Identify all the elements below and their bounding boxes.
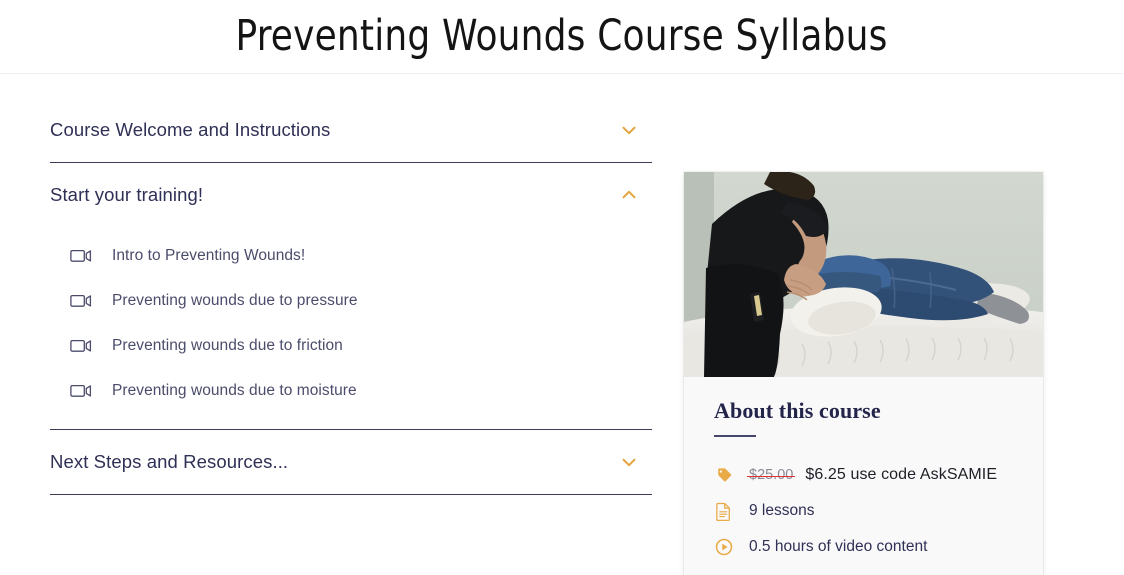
about-course-panel: About this course $25.00 $6.25 use code … [684,98,1043,575]
page-title: Preventing Wounds Course Syllabus [236,15,888,58]
lesson-title: Intro to Preventing Wounds! [112,247,305,265]
about-heading: About this course [714,399,1017,423]
section-title: Next Steps and Resources... [50,451,288,473]
about-course-body: About this course $25.00 $6.25 use code … [684,377,1043,575]
lesson-title: Preventing wounds due to friction [112,337,343,355]
section-header-start-your-training[interactable]: Start your training! [50,163,652,227]
chevron-up-icon[interactable] [618,184,640,206]
price-text: $25.00 $6.25 use code AskSAMIE [749,466,997,484]
page-content: Course Welcome and Instructions Start yo… [0,74,1124,575]
video-camera-icon [70,338,92,354]
curriculum-accordion: Course Welcome and Instructions Start yo… [50,98,652,495]
course-thumbnail-image [684,172,1043,377]
curriculum-section: Start your training! [50,163,652,430]
video-duration-row: 0.5 hours of video content [714,529,1017,565]
list-item[interactable]: Preventing wounds due to friction [50,323,652,368]
section-header-next-steps[interactable]: Next Steps and Resources... [50,430,652,494]
list-item[interactable]: Preventing wounds due to pressure [50,278,652,323]
lessons-count-text: 9 lessons [749,502,814,520]
heading-rule [714,435,756,437]
lesson-list: Intro to Preventing Wounds! Preventing w… [50,227,652,429]
video-duration-text: 0.5 hours of video content [749,538,927,556]
page-header: Preventing Wounds Course Syllabus [0,0,1124,74]
list-item[interactable]: Preventing wounds due to moisture [50,368,652,413]
chevron-down-icon[interactable] [618,451,640,473]
curriculum-section: Next Steps and Resources... [50,430,652,495]
video-camera-icon [70,293,92,309]
document-icon [714,500,733,522]
lesson-title: Preventing wounds due to pressure [112,292,358,310]
section-header-course-welcome[interactable]: Course Welcome and Instructions [50,98,652,162]
section-divider [50,494,652,495]
section-title: Course Welcome and Instructions [50,119,330,141]
section-title: Start your training! [50,184,203,206]
price-original: $25.00 [749,467,793,483]
play-circle-icon [714,536,733,558]
curriculum-section: Course Welcome and Instructions [50,98,652,163]
chevron-down-icon[interactable] [618,119,640,141]
tag-icon [714,464,733,486]
lesson-title: Preventing wounds due to moisture [112,382,357,400]
video-camera-icon [70,383,92,399]
video-camera-icon [70,248,92,264]
list-item[interactable]: Intro to Preventing Wounds! [50,233,652,278]
price-row: $25.00 $6.25 use code AskSAMIE [714,457,1017,493]
lessons-count-row: 9 lessons [714,493,1017,529]
price-discounted: $6.25 use code AskSAMIE [805,466,997,484]
syllabus-page: Preventing Wounds Course Syllabus Course… [0,0,1124,575]
about-course-card: About this course $25.00 $6.25 use code … [684,172,1043,575]
